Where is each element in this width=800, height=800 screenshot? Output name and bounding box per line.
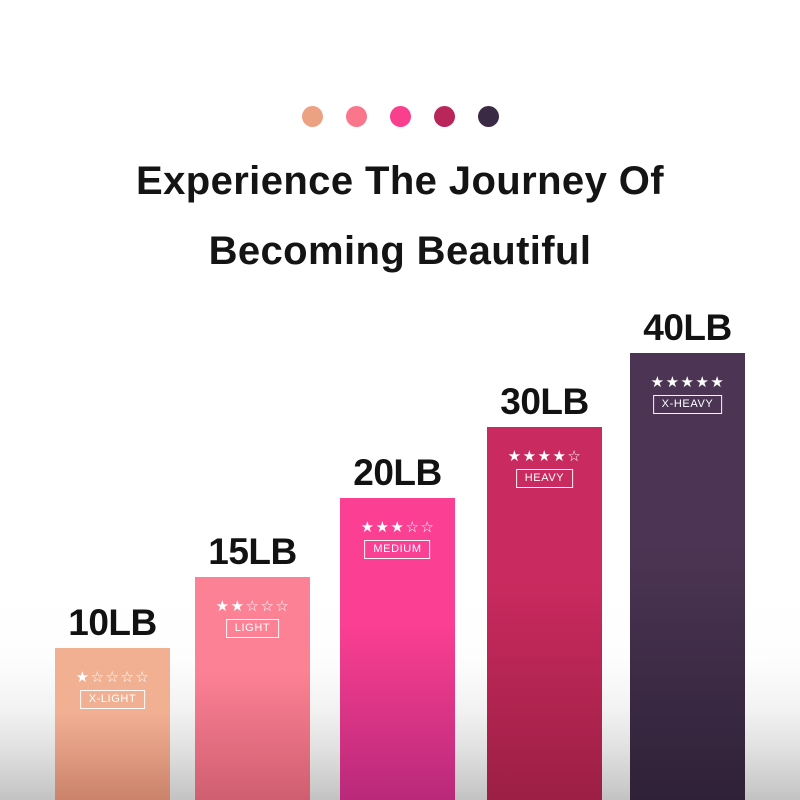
bar-value-label: 40LB [643,307,731,349]
star-filled-icon: ★ [695,375,709,390]
star-rating: ★★☆☆☆ [216,599,290,614]
star-empty-icon: ☆ [91,670,105,685]
star-filled-icon: ★ [666,375,680,390]
star-filled-icon: ★ [552,449,566,464]
level-badge-label: X-LIGHT [80,690,146,709]
star-filled-icon: ★ [76,670,90,685]
star-rating: ★☆☆☆☆ [76,670,150,685]
bar-badge: ★★★★☆HEAVY [508,449,582,488]
bar-group-15lb[interactable]: 15LB★★☆☆☆LIGHT [195,577,310,800]
star-empty-icon: ☆ [275,599,289,614]
star-empty-icon: ☆ [120,670,134,685]
bar-group-40lb[interactable]: 40LB★★★★★X-HEAVY [630,353,745,800]
star-empty-icon: ☆ [246,599,260,614]
star-filled-icon: ★ [681,375,695,390]
star-filled-icon: ★ [508,449,522,464]
bar-value-label: 15LB [208,531,296,573]
star-filled-icon: ★ [376,520,390,535]
bar-rect: ★★★☆☆MEDIUM [340,498,455,800]
bar-badge: ★★★☆☆MEDIUM [361,520,435,559]
bar-chart: 10LB★☆☆☆☆X-LIGHT15LB★★☆☆☆LIGHT20LB★★★☆☆M… [0,0,800,800]
bar-value-label: 20LB [353,452,441,494]
star-filled-icon: ★ [361,520,375,535]
level-badge-label: LIGHT [226,619,279,638]
star-rating: ★★★★★ [651,375,725,390]
star-filled-icon: ★ [710,375,724,390]
star-empty-icon: ☆ [405,520,419,535]
star-filled-icon: ★ [391,520,405,535]
star-filled-icon: ★ [538,449,552,464]
level-badge-label: MEDIUM [364,540,430,559]
bar-rect: ★☆☆☆☆X-LIGHT [55,648,170,800]
level-badge-label: X-HEAVY [653,395,723,414]
bar-badge: ★☆☆☆☆X-LIGHT [76,670,150,709]
star-filled-icon: ★ [523,449,537,464]
star-empty-icon: ☆ [567,449,581,464]
star-filled-icon: ★ [216,599,230,614]
bar-group-20lb[interactable]: 20LB★★★☆☆MEDIUM [340,498,455,800]
star-filled-icon: ★ [651,375,665,390]
bar-value-label: 10LB [68,602,156,644]
level-badge-label: HEAVY [516,469,573,488]
bar-rect: ★★☆☆☆LIGHT [195,577,310,800]
bar-value-label: 30LB [500,381,588,423]
bar-rect: ★★★★★X-HEAVY [630,353,745,800]
bar-rect: ★★★★☆HEAVY [487,427,602,800]
bar-group-10lb[interactable]: 10LB★☆☆☆☆X-LIGHT [55,648,170,800]
star-filled-icon: ★ [231,599,245,614]
bar-group-30lb[interactable]: 30LB★★★★☆HEAVY [487,427,602,800]
bar-badge: ★★☆☆☆LIGHT [216,599,290,638]
star-empty-icon: ☆ [135,670,149,685]
star-empty-icon: ☆ [260,599,274,614]
bar-badge: ★★★★★X-HEAVY [651,375,725,414]
star-rating: ★★★★☆ [508,449,582,464]
star-empty-icon: ☆ [420,520,434,535]
resistance-band-infographic: Experience The Journey Of Becoming Beaut… [0,0,800,800]
star-empty-icon: ☆ [106,670,120,685]
star-rating: ★★★☆☆ [361,520,435,535]
